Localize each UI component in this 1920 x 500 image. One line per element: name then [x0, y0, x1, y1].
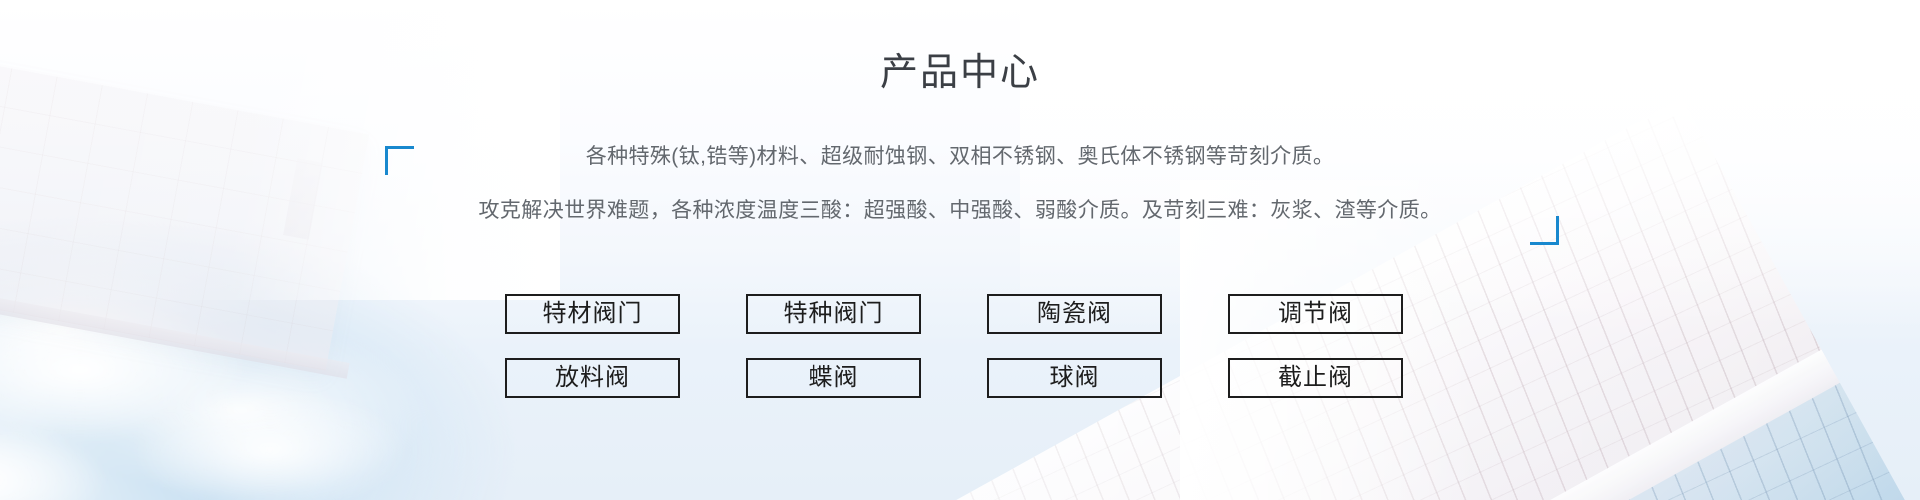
category-button-control-valve[interactable]: 调节阀: [1228, 294, 1403, 334]
category-button-ball-valve[interactable]: 球阀: [987, 358, 1162, 398]
category-row-1: 特材阀门 特种阀门 陶瓷阀 调节阀: [505, 294, 1415, 334]
corner-bracket-bottom-right-icon: [1530, 216, 1559, 245]
category-button-grid: 特材阀门 特种阀门 陶瓷阀 调节阀 放料阀 蝶阀 球阀 截止阀: [505, 294, 1415, 398]
category-button-discharge-valve[interactable]: 放料阀: [505, 358, 680, 398]
description-line-1: 各种特殊(钛,锆等)材料、超级耐蚀钢、双相不锈钢、奥氏体不锈钢等苛刻介质。: [360, 140, 1560, 174]
category-button-globe-valve[interactable]: 截止阀: [1228, 358, 1403, 398]
category-button-ceramic-valve[interactable]: 陶瓷阀: [987, 294, 1162, 334]
category-row-2: 放料阀 蝶阀 球阀 截止阀: [505, 358, 1415, 398]
product-center-banner: 产品中心 各种特殊(钛,锆等)材料、超级耐蚀钢、双相不锈钢、奥氏体不锈钢等苛刻介…: [0, 0, 1920, 500]
description-line-2: 攻克解决世界难题，各种浓度温度三酸：超强酸、中强酸、弱酸介质。及苛刻三难：灰浆、…: [360, 194, 1560, 228]
description-block: 各种特殊(钛,锆等)材料、超级耐蚀钢、双相不锈钢、奥氏体不锈钢等苛刻介质。 攻克…: [360, 140, 1560, 228]
banner-content: 产品中心 各种特殊(钛,锆等)材料、超级耐蚀钢、双相不锈钢、奥氏体不锈钢等苛刻介…: [0, 0, 1920, 500]
page-title: 产品中心: [0, 48, 1920, 98]
category-button-butterfly-valve[interactable]: 蝶阀: [746, 358, 921, 398]
category-button-special-valve[interactable]: 特种阀门: [746, 294, 921, 334]
corner-bracket-top-left-icon: [385, 146, 414, 175]
category-button-techai-valve[interactable]: 特材阀门: [505, 294, 680, 334]
